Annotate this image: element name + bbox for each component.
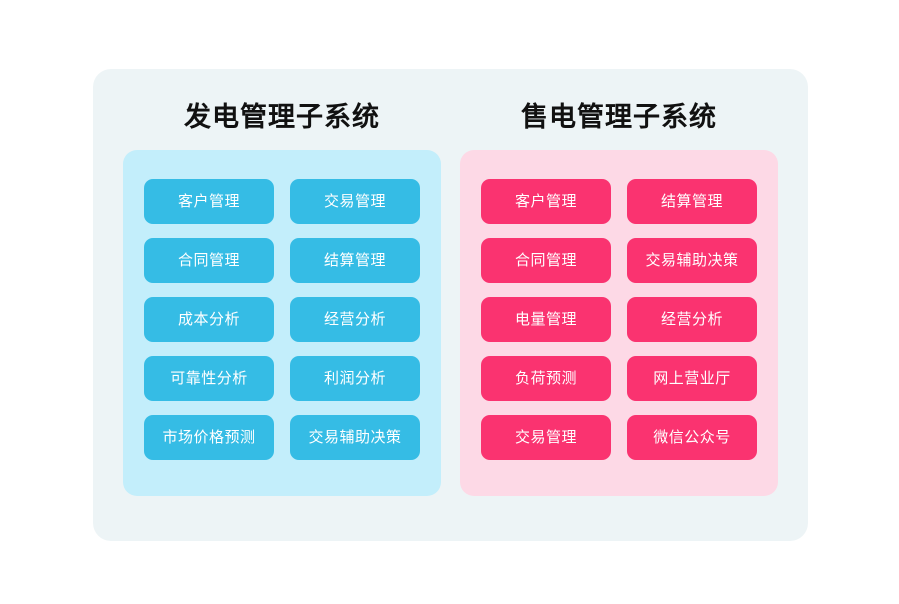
sales-modules-panel: 客户管理 结算管理 合同管理 交易辅助决策 电量管理 经营分析 负荷预测 网上营… bbox=[460, 150, 778, 496]
column-generation: 发电管理子系统 客户管理 交易管理 合同管理 结算管理 成本分析 经营分析 可靠… bbox=[123, 69, 441, 541]
module-chip-generation-7[interactable]: 可靠性分析 bbox=[144, 356, 274, 401]
module-chip-sales-6[interactable]: 经营分析 bbox=[627, 297, 757, 342]
module-chip-sales-7[interactable]: 负荷预测 bbox=[481, 356, 611, 401]
module-chip-sales-4[interactable]: 交易辅助决策 bbox=[627, 238, 757, 283]
subsystems-card: 发电管理子系统 客户管理 交易管理 合同管理 结算管理 成本分析 经营分析 可靠… bbox=[93, 69, 808, 541]
module-chip-generation-10[interactable]: 交易辅助决策 bbox=[290, 415, 420, 460]
module-chip-generation-1[interactable]: 客户管理 bbox=[144, 179, 274, 224]
generation-modules-panel: 客户管理 交易管理 合同管理 结算管理 成本分析 经营分析 可靠性分析 利润分析… bbox=[123, 150, 441, 496]
module-chip-sales-9[interactable]: 交易管理 bbox=[481, 415, 611, 460]
module-chip-generation-4[interactable]: 结算管理 bbox=[290, 238, 420, 283]
diagram-canvas: 发电管理子系统 客户管理 交易管理 合同管理 结算管理 成本分析 经营分析 可靠… bbox=[0, 0, 899, 604]
generation-subsystem-title: 发电管理子系统 bbox=[184, 104, 380, 131]
module-chip-sales-10[interactable]: 微信公众号 bbox=[627, 415, 757, 460]
module-chip-generation-2[interactable]: 交易管理 bbox=[290, 179, 420, 224]
module-chip-sales-1[interactable]: 客户管理 bbox=[481, 179, 611, 224]
module-chip-generation-3[interactable]: 合同管理 bbox=[144, 238, 274, 283]
sales-subsystem-title: 售电管理子系统 bbox=[521, 104, 717, 131]
module-chip-generation-8[interactable]: 利润分析 bbox=[290, 356, 420, 401]
module-chip-sales-2[interactable]: 结算管理 bbox=[627, 179, 757, 224]
module-chip-sales-3[interactable]: 合同管理 bbox=[481, 238, 611, 283]
column-sales: 售电管理子系统 客户管理 结算管理 合同管理 交易辅助决策 电量管理 经营分析 … bbox=[460, 69, 778, 541]
module-chip-sales-5[interactable]: 电量管理 bbox=[481, 297, 611, 342]
module-chip-sales-8[interactable]: 网上营业厅 bbox=[627, 356, 757, 401]
module-chip-generation-6[interactable]: 经营分析 bbox=[290, 297, 420, 342]
module-chip-generation-9[interactable]: 市场价格预测 bbox=[144, 415, 274, 460]
module-chip-generation-5[interactable]: 成本分析 bbox=[144, 297, 274, 342]
